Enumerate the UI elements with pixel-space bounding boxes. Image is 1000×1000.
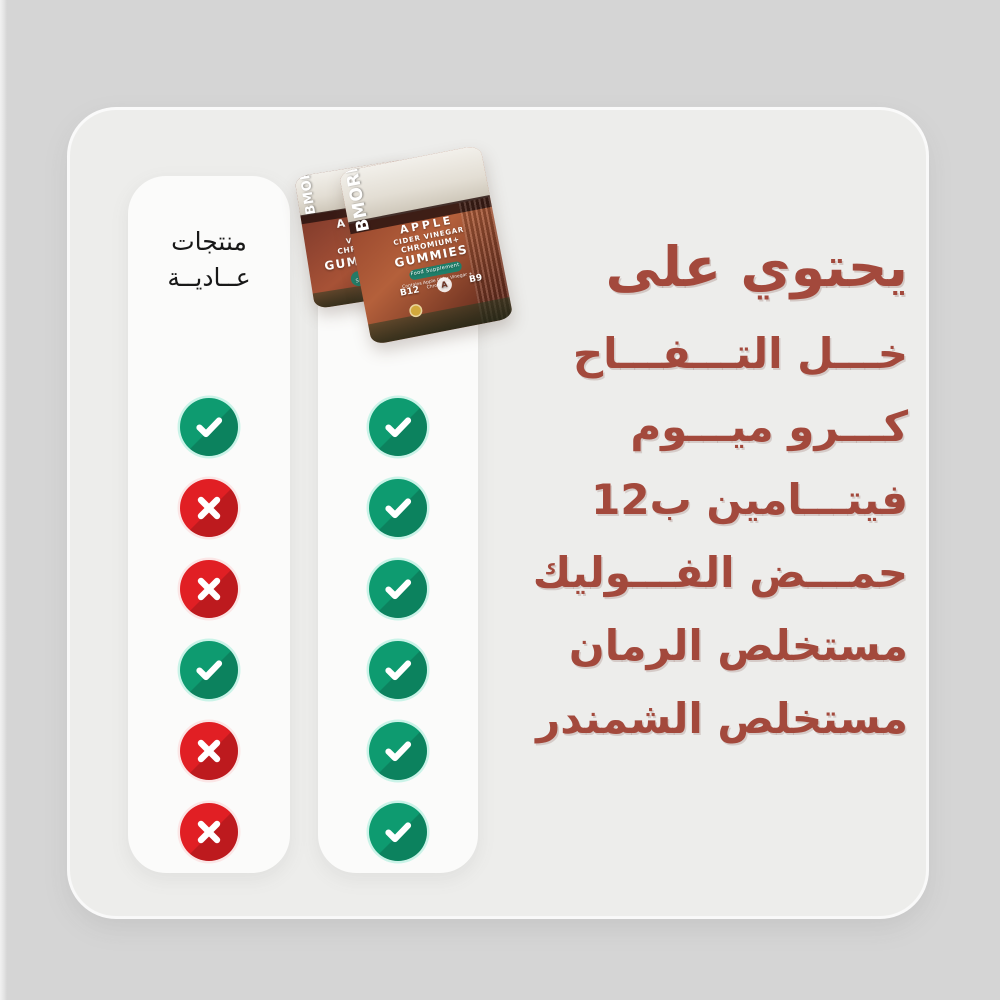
cross-circle-icon: [180, 722, 238, 780]
page-title: يحتوي على: [488, 240, 908, 295]
list-item: [318, 791, 478, 872]
ingredient-item-5: مستخلص الرمان: [488, 625, 908, 667]
ingredient-item-6: مستخلص الشمندر: [488, 698, 908, 740]
vitamin-center-icon: A: [436, 276, 454, 294]
regular-products-card: منتجات عــاديــة: [128, 176, 290, 873]
cross-circle-icon: [180, 560, 238, 618]
list-item: [318, 467, 478, 548]
list-item: [128, 791, 290, 872]
ingredients-copy: يحتوي على خـــل التـــفـــاح كـــرو ميــ…: [488, 240, 908, 740]
check-circle-icon: [180, 398, 238, 456]
list-item: [318, 386, 478, 467]
cross-circle-icon: [180, 803, 238, 861]
ingredient-item-3: فيتـــامين ب12: [488, 479, 908, 521]
vitamin-b12-badge: B12: [399, 285, 420, 299]
ingredient-item-2: كـــرو ميـــوم: [488, 406, 908, 448]
regular-products-title: منتجات عــاديــة: [128, 224, 290, 295]
product-photo: BMORE APPLE CIDER VINEGAR +CHROMIUM GUMM…: [296, 143, 508, 358]
cross-circle-icon: [180, 479, 238, 537]
check-circle-icon: [369, 560, 427, 618]
canvas-edge-highlight: [0, 0, 7, 1000]
our-product-status-list: [318, 386, 478, 872]
list-item: [318, 629, 478, 710]
regular-products-status-list: [128, 386, 290, 872]
list-item: [128, 629, 290, 710]
vitamin-b9-badge: B9: [468, 273, 483, 285]
check-circle-icon: [369, 803, 427, 861]
check-circle-icon: [369, 641, 427, 699]
list-item: [128, 710, 290, 791]
ingredient-item-4: حمـــض الفـــوليك: [488, 552, 908, 594]
check-circle-icon: [369, 722, 427, 780]
list-item: [318, 548, 478, 629]
list-item: [128, 386, 290, 467]
list-item: [128, 467, 290, 548]
list-item: [318, 710, 478, 791]
infographic-canvas: منتجات عــاديــة: [0, 0, 1000, 1000]
regular-products-title-line1: منتجات: [128, 224, 290, 260]
check-circle-icon: [369, 479, 427, 537]
list-item: [128, 548, 290, 629]
check-circle-icon: [180, 641, 238, 699]
regular-products-title-line2: عــاديــة: [128, 260, 290, 296]
ingredient-item-1: خـــل التـــفـــاح: [488, 333, 908, 375]
check-circle-icon: [369, 398, 427, 456]
